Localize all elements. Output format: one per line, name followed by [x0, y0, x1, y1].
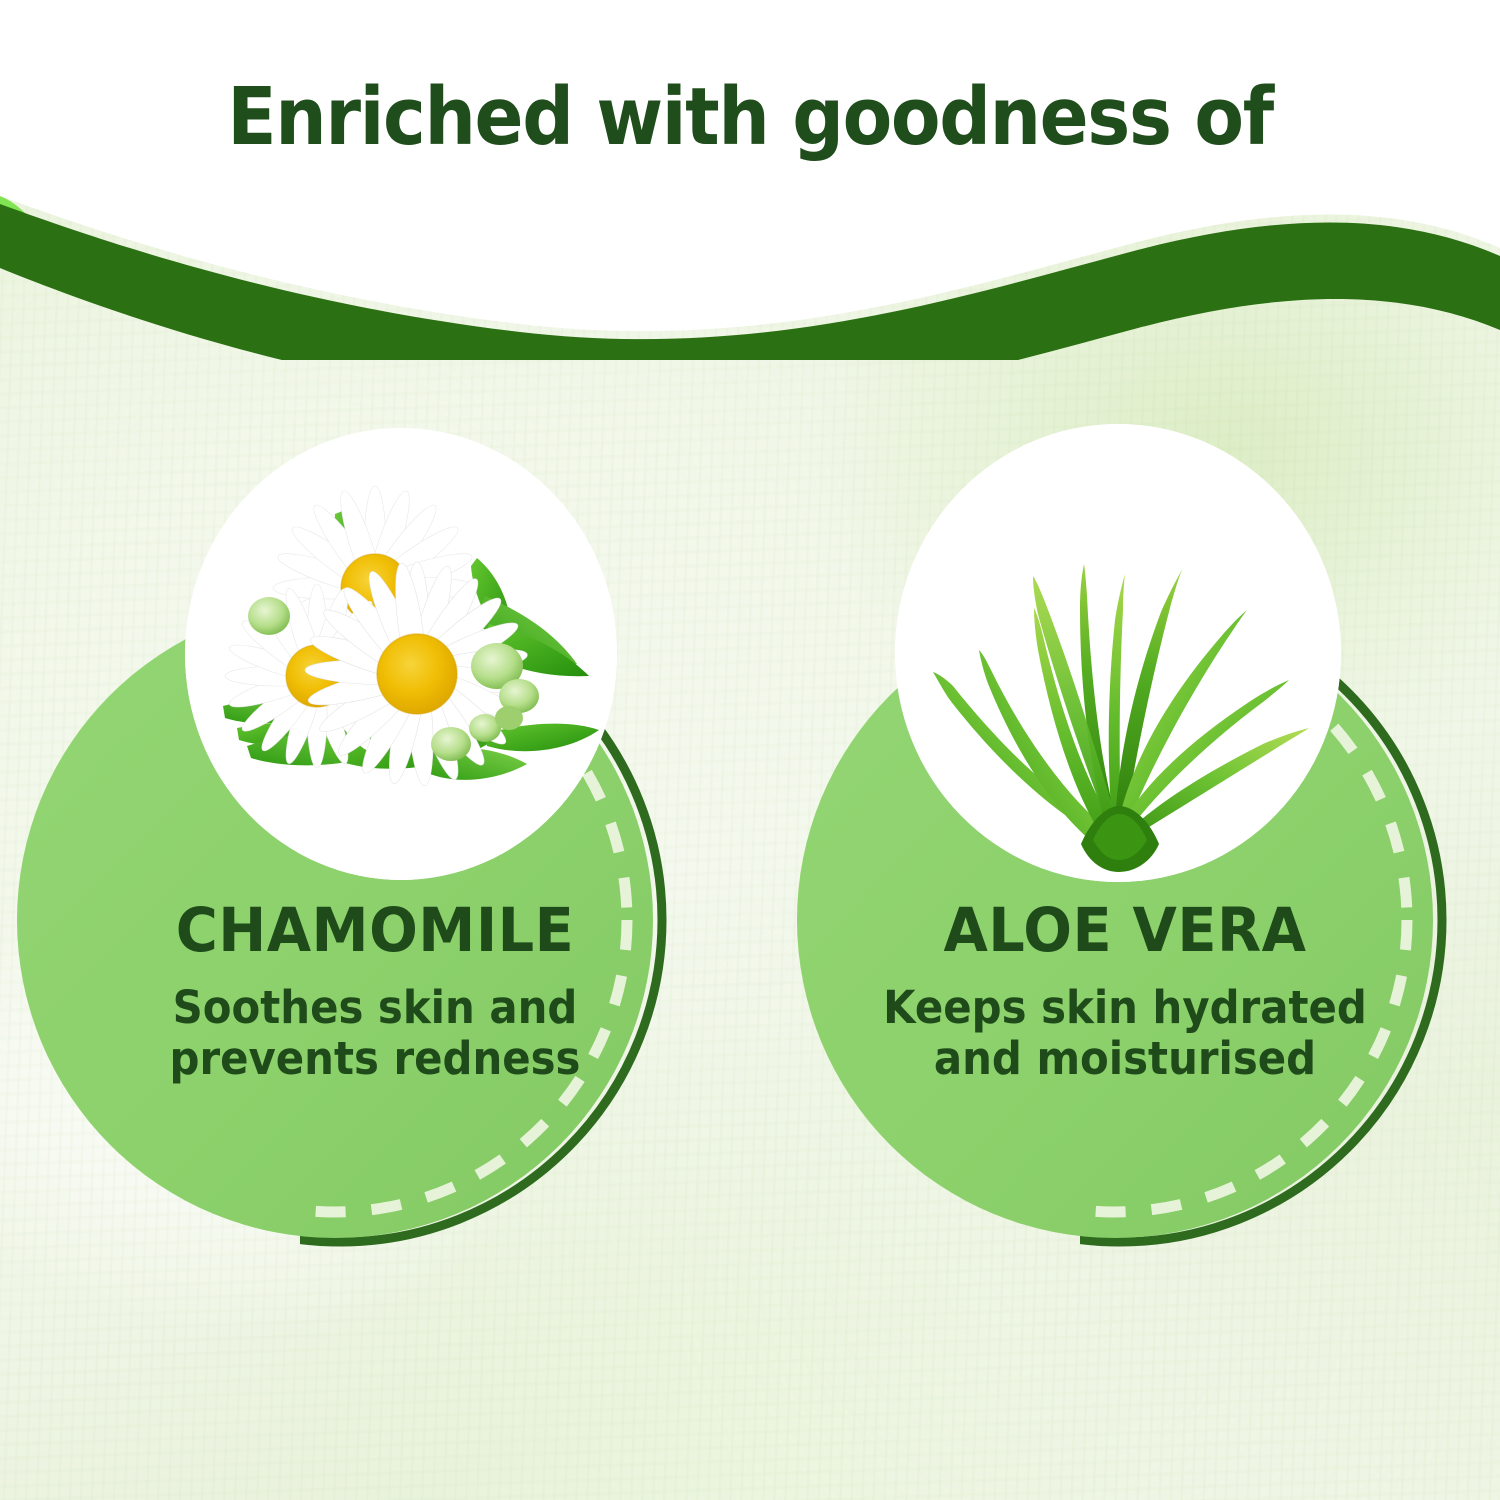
- ingredient-name: CHAMOMILE: [23, 900, 728, 961]
- aloe-vera-photo-bubble: [895, 424, 1341, 882]
- aloe-vera-plant-photo: [895, 424, 1341, 882]
- ingredient-name: ALOE VERA: [773, 900, 1478, 961]
- ingredient-card-chamomile[interactable]: CHAMOMILE Soothes skin and prevents redn…: [0, 0, 750, 1500]
- ingredient-description: Keeps skin hydrated and moisturised: [776, 983, 1474, 1085]
- chamomile-text-block: CHAMOMILE Soothes skin and prevents redn…: [0, 900, 750, 1085]
- ingredient-card-aloe-vera[interactable]: ALOE VERA Keeps skin hydrated and moistu…: [750, 0, 1500, 1500]
- promo-banner: Enriched with goodness of: [0, 0, 1500, 1500]
- aloe-vera-text-block: ALOE VERA Keeps skin hydrated and moistu…: [750, 900, 1500, 1085]
- chamomile-photo-bubble: [185, 428, 617, 880]
- page-title: Enriched with goodness of: [64, 78, 1437, 157]
- ingredient-cards-row: CHAMOMILE Soothes skin and prevents redn…: [0, 0, 1500, 1500]
- chamomile-flowers-photo: [185, 428, 617, 880]
- description-line-1: Soothes skin and: [26, 983, 724, 1034]
- description-line-2: prevents redness: [26, 1034, 724, 1085]
- ingredient-description: Soothes skin and prevents redness: [26, 983, 724, 1085]
- description-line-1: Keeps skin hydrated: [776, 983, 1474, 1034]
- description-line-2: and moisturised: [776, 1034, 1474, 1085]
